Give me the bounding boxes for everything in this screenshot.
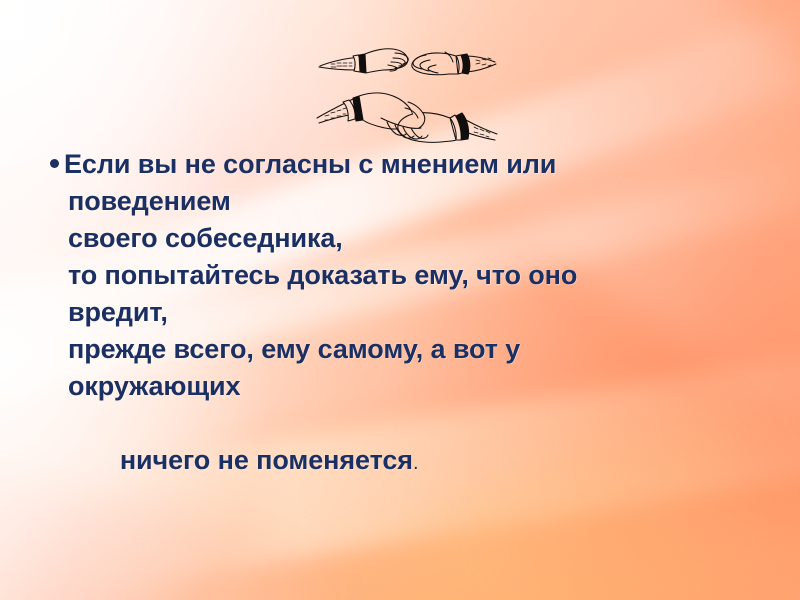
top-left-hand xyxy=(319,49,408,73)
bottom-handshake xyxy=(317,93,497,142)
text-line-3: своего собеседника, xyxy=(50,220,710,257)
text-line-2: поведением xyxy=(50,183,710,220)
handshake-illustration xyxy=(309,22,505,150)
body-text-block: Если вы не согласны с мнением или поведе… xyxy=(50,146,710,519)
text-line-8: ничего не поменяется. xyxy=(50,405,710,519)
text-line-6: прежде всего, ему самому, а вот у xyxy=(50,331,710,368)
bullet-icon xyxy=(50,159,59,168)
terminal-period: . xyxy=(413,452,418,474)
slide-canvas: Если вы не согласны с мнением или поведе… xyxy=(0,0,800,600)
text-line-4: то попытайтесь доказать ему, что оно xyxy=(50,257,710,294)
text-line-7: окружающих xyxy=(50,368,710,405)
text-line-5: вредит, xyxy=(50,294,710,331)
text-line-1: Если вы не согласны с мнением или xyxy=(64,146,556,183)
text-line-8-body: ничего не поменяется xyxy=(112,445,413,475)
top-right-hand xyxy=(412,52,496,75)
bullet-line: Если вы не согласны с мнением или xyxy=(50,146,710,183)
